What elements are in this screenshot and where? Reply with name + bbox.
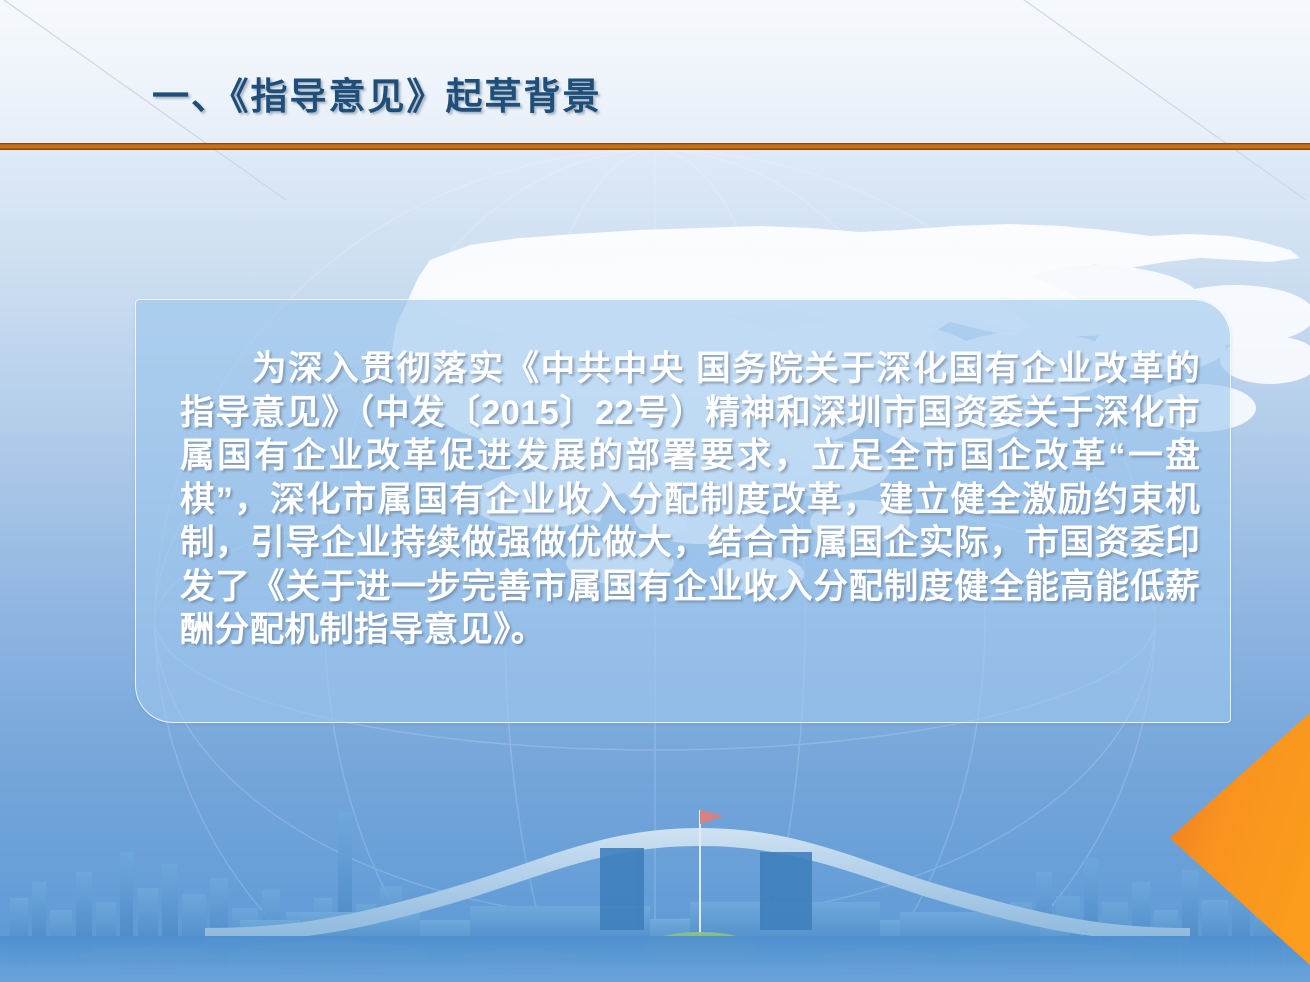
content-callout-box: 为深入贯彻落实《中共中央 国务院关于深化国有企业改革的指导意见》（中发〔2015…: [135, 299, 1231, 723]
content-body-paragraph: 为深入贯彻落实《中共中央 国务院关于深化国有企业改革的指导意见》（中发〔2015…: [180, 348, 1200, 653]
shenzhen-civic-center-skyline-icon: [0, 752, 1310, 982]
page-title: 一、《指导意见》起草背景: [152, 66, 602, 120]
water-band: [0, 936, 1310, 982]
slide-canvas: 一、《指导意见》起草背景 为深入贯彻落实《中共中央 国务院关于深化国有企业改革的…: [0, 0, 1310, 982]
header-divider-rule: [0, 143, 1310, 150]
orange-chevron-arrow-icon: [1125, 713, 1310, 965]
